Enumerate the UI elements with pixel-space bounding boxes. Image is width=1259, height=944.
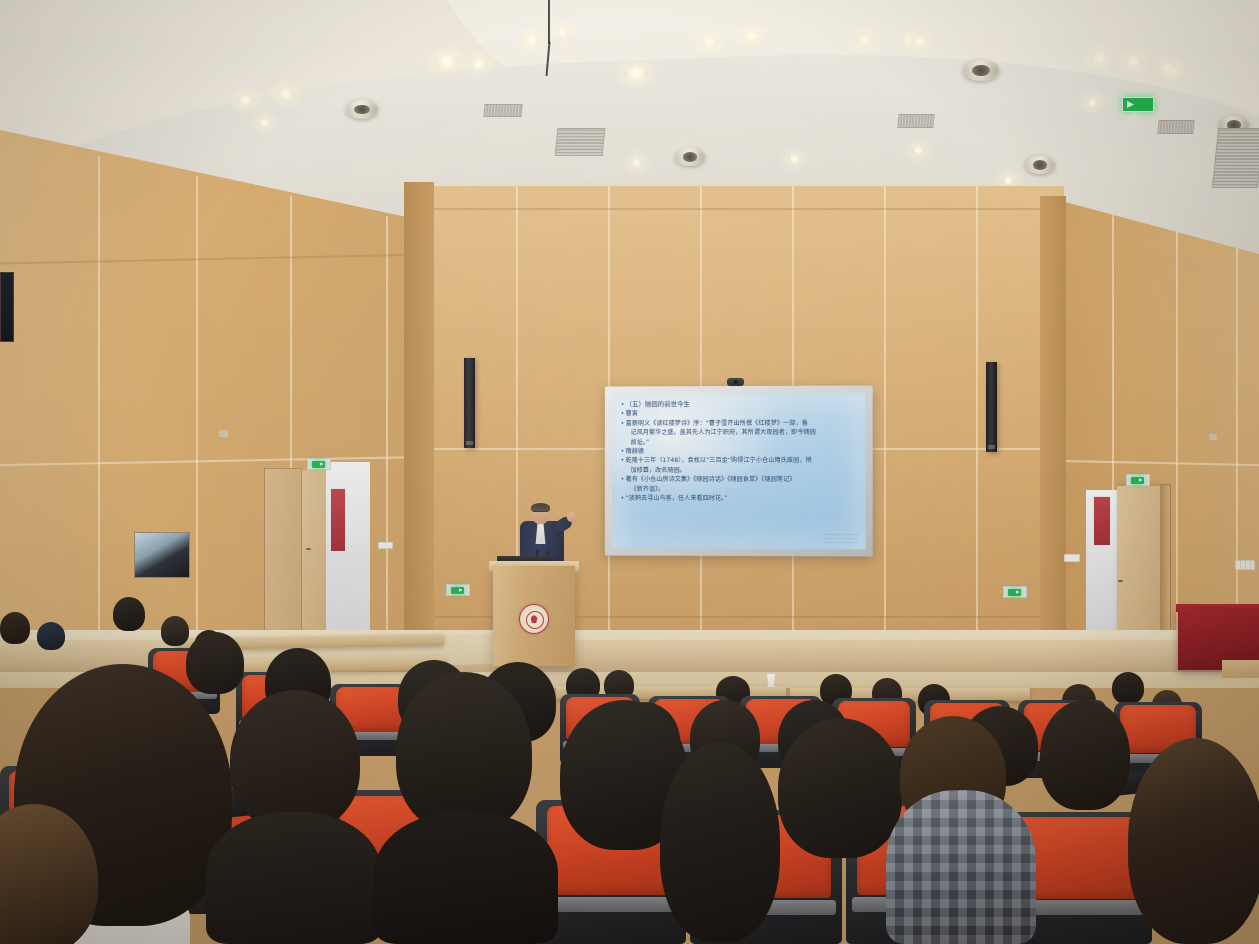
wall-display-panel [134,532,190,578]
exit-sign-left [307,458,331,470]
ceiling-recessed-fixture [675,148,705,166]
ceiling-downlight [1002,176,1015,185]
light-switch-right[interactable] [1064,554,1080,562]
wall-right-return [1040,196,1066,648]
slide-line-text: 富察明义《读红楼梦诗》序：“曹子雪芹出所撰《红楼梦》一部，备 [626,420,808,427]
speaker-glasses-icon [533,511,548,515]
audience-head-foreground [778,718,902,858]
audience-head-foreground [396,672,532,832]
ceiling-downlight [556,28,569,37]
exit-sign-stage-right [1003,586,1027,598]
ceiling-downlight [742,30,761,42]
slide-line-text: 乾隆十三年（1748），袁枚以“三百金”购得江宁小仓山隋氏废园，稍 [626,457,812,464]
slide-watermark [823,533,857,543]
projected-slide: •（五）随园的前世今生 •曹寅 •富察明义《读红楼梦诗》序：“曹子雪芹出所撰《红… [612,393,866,550]
projection-screen: •（五）随园的前世今生 •曹寅 •富察明义《读红楼梦诗》序：“曹子雪芹出所撰《红… [605,386,873,557]
ceiling-downlight [910,36,929,48]
slide-line-text: 加修葺，改名随园。 [631,467,686,474]
exit-sign-icon [1122,97,1154,112]
ceiling-downlight [469,58,488,70]
outlet-panel-right[interactable] [1235,560,1255,570]
door-right-edge [1160,484,1171,652]
audience-shoulders [374,812,558,944]
slide-line-text: 《新齐谐》。 [631,486,665,493]
door-left-closed[interactable] [264,468,302,642]
ceiling-camera-icon [727,378,744,386]
audience-head-foreground [1128,738,1259,944]
slide-line: •曹寅 [621,409,860,419]
slide-line: •富察明义《读红楼梦诗》序：“曹子雪芹出所撰《红楼梦》一部，备 [621,419,860,429]
slide-line-text: 记风月繁华之盛。盖其先人为江宁织府，其所谓大观园者，即今随园 [631,429,816,436]
speaker-hand [567,512,576,522]
slide-line-text: “放鹤去寻山鸟客，任人来看四时花。” [626,495,728,502]
ceiling-downlight [1086,98,1099,107]
slide-line: •“放鹤去寻山鸟客，任人来看四时花。” [621,494,860,504]
wall-left-return [404,182,434,652]
audience-head [37,622,65,650]
audience-head [186,632,244,694]
door-left-open-leaf[interactable] [302,464,326,642]
slide-line: 加修葺，改名随园。 [621,466,860,475]
ceiling-downlight [856,34,875,46]
audience-head [0,612,30,644]
ceiling-recessed-fixture [963,60,999,81]
exit-sign-stage-left [446,584,470,596]
ceiling-downlight [700,36,719,48]
audience-head [1112,672,1144,704]
line-array-speaker-right [986,362,997,452]
light-switch-left[interactable] [378,542,393,549]
door-handle-icon[interactable] [1118,580,1123,582]
door-right-open-leaf[interactable] [1117,486,1161,650]
corridor-poster-right [1093,496,1111,546]
wall-panel-dark-left [0,272,14,342]
slide-line-text: 故址。” [631,439,650,446]
slide-line-text: 著有《小仓山房诗文集》《随园诗话》《随园食单》《随园笔记》 [626,476,796,483]
ceiling-downlight [630,158,643,167]
audience-head-foreground [660,742,780,942]
audience-plaid-shirt [886,790,1036,944]
wood-table-right [1222,660,1259,678]
slide-line: 故址。” [621,437,860,447]
ceiling-recessed-fixture [1025,156,1055,174]
ceiling-downlight [623,66,649,81]
ceiling-air-vent [897,114,934,128]
ceiling-downlight [236,94,255,106]
audience-head [113,597,145,631]
door-handle-icon[interactable] [306,548,311,550]
audience-head-foreground [230,690,360,830]
ceiling-downlight [1124,56,1143,68]
ceiling-downlight [912,146,925,155]
slide-line: •隋赫德 [621,447,860,457]
slide-text-body: •（五）随园的前世今生 •曹寅 •富察明义《读红楼梦诗》序：“曹子雪芹出所撰《红… [621,400,860,546]
ceiling-return-grille [1212,128,1259,188]
wall-sensor-icon [1209,434,1217,440]
slide-line-text: 曹寅 [626,411,638,418]
ceiling-cable [548,0,550,44]
ceiling-air-vent [483,104,522,117]
wall-sensor-icon [219,430,228,437]
university-crest-icon [519,604,549,634]
slide-line: •著有《小仓山房诗文集》《随园诗话》《随园食单》《随园笔记》 [621,475,860,484]
slide-line: 记风月繁华之盛。盖其先人为江宁织府，其所谓大观园者，即今随园 [621,428,860,438]
corridor-poster-left [330,488,346,552]
slide-line: 《新齐谐》。 [621,485,860,495]
ceiling-downlight [522,34,541,46]
ceiling-recessed-fixture [346,100,378,119]
slide-line-text: （五）随园的前世今生 [626,400,690,408]
audience-head-foreground [1040,700,1130,810]
auditorium-photo: •（五）随园的前世今生 •曹寅 •富察明义《读红楼梦诗》序：“曹子雪芹出所撰《红… [0,0,1259,944]
audience-head [161,616,189,646]
ceiling-downlight [276,88,295,100]
ceiling-downlight [788,154,801,163]
ceiling-return-grille [555,128,606,156]
exit-sign-right [1126,474,1150,486]
ceiling-downlight [434,54,460,69]
ceiling-downlight [258,118,271,127]
audience-shoulders [206,812,382,944]
ceiling-air-vent [1157,120,1194,134]
line-array-speaker-left [464,358,475,448]
ceiling-downlight [1158,62,1177,74]
slide-line-text: 隋赫德 [626,448,644,455]
ceiling-downlight [1090,52,1109,64]
slide-line: •乾隆十三年（1748），袁枚以“三百金”购得江宁小仓山隋氏废园，稍 [621,456,860,466]
